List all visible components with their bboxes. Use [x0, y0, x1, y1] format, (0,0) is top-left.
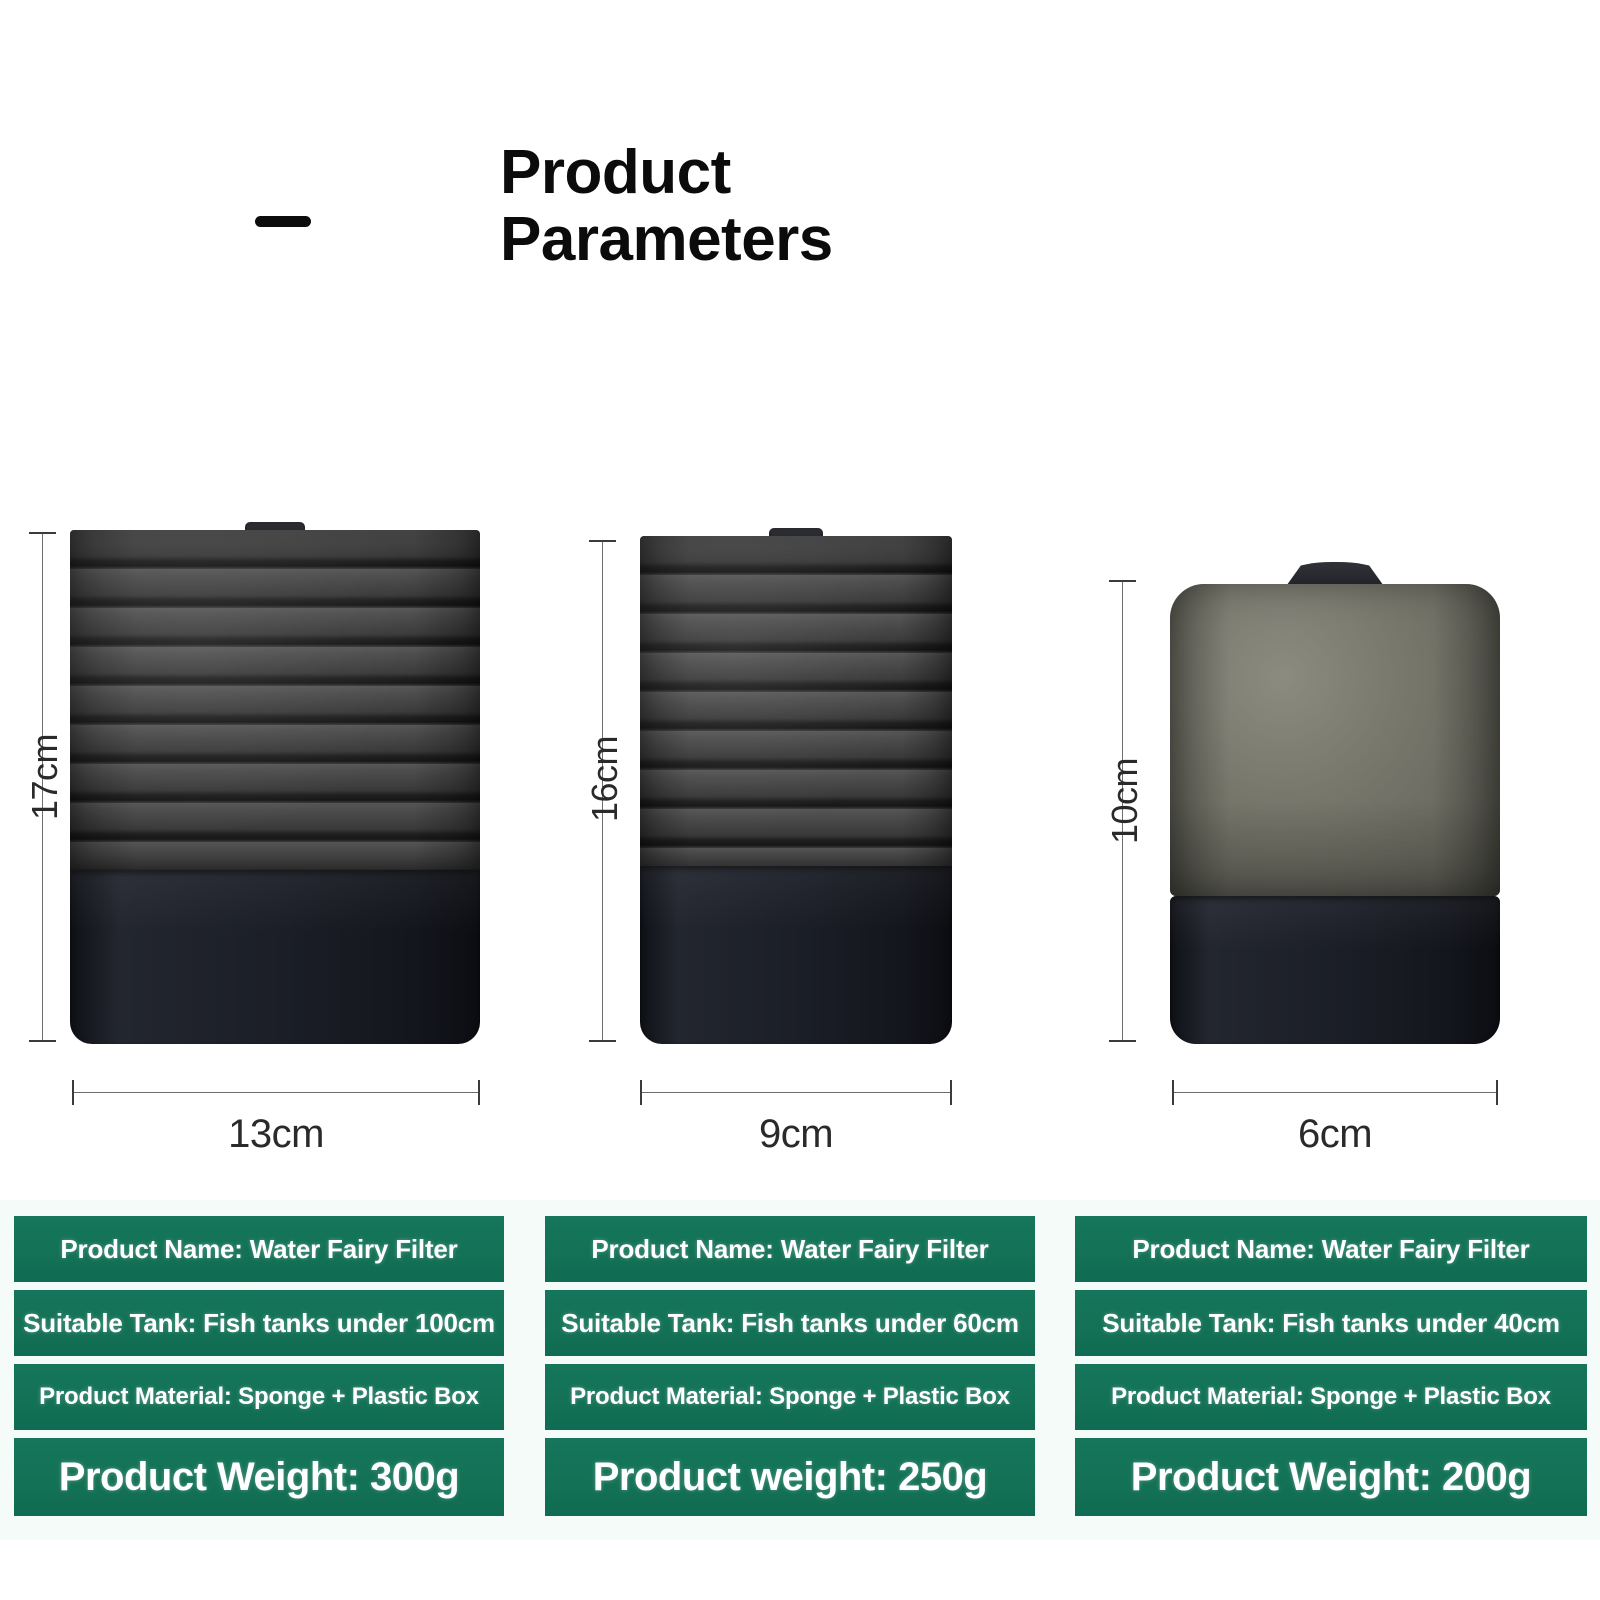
spec-value-suitable-tank: Suitable Tank: Fish tanks under 60cm	[561, 1308, 1019, 1339]
spec-row-product-material: Product Material: Sponge + Plastic Box	[545, 1364, 1035, 1430]
product-figure-large: 17cm 13cm	[0, 500, 520, 1180]
page-title-line-1: Product	[500, 140, 1200, 207]
height-dimension-label-medium: 16cm	[584, 736, 626, 822]
spec-value-product-material: Product Material: Sponge + Plastic Box	[39, 1383, 479, 1411]
spec-row-product-weight: Product Weight: 300g	[14, 1438, 504, 1516]
spec-row-product-name: Product Name: Water Fairy Filter	[14, 1216, 504, 1282]
spec-value-product-name: Product Name: Water Fairy Filter	[591, 1234, 988, 1265]
page-header: Product Parameters	[500, 140, 1200, 274]
spec-value-product-weight: Product Weight: 200g	[1131, 1455, 1531, 1500]
spec-column-large: Product Name: Water Fairy Filter Suitabl…	[14, 1200, 504, 1540]
sponge-fins-medium	[640, 536, 952, 866]
spec-row-product-name: Product Name: Water Fairy Filter	[545, 1216, 1035, 1282]
specifications-panel: Product Name: Water Fairy Filter Suitabl…	[0, 1200, 1600, 1540]
sponge-block-small	[1170, 584, 1500, 896]
width-dimension-line-small	[1172, 1092, 1498, 1093]
spec-value-product-material: Product Material: Sponge + Plastic Box	[1111, 1383, 1551, 1411]
filter-body-small	[1170, 562, 1500, 1044]
filter-body-medium	[640, 536, 952, 1044]
plastic-base-small	[1170, 896, 1500, 1044]
product-figure-small: 10cm 6cm	[1060, 500, 1600, 1180]
spec-value-suitable-tank: Suitable Tank: Fish tanks under 100cm	[23, 1308, 495, 1339]
page-title-line-2: Parameters	[500, 207, 1200, 274]
spec-value-suitable-tank: Suitable Tank: Fish tanks under 40cm	[1102, 1308, 1560, 1339]
spec-row-product-weight: Product weight: 250g	[545, 1438, 1035, 1516]
plastic-base-large	[70, 870, 480, 1044]
product-figure-medium: 16cm 9cm	[530, 500, 1050, 1180]
height-dimension-label-large: 17cm	[24, 734, 66, 820]
spec-value-product-weight: Product weight: 250g	[593, 1455, 988, 1500]
spec-value-product-name: Product Name: Water Fairy Filter	[1132, 1234, 1529, 1265]
product-illustration-stage: 17cm 13cm 16cm 9cm 10cm	[0, 500, 1600, 1180]
sponge-fins-large	[70, 530, 480, 870]
width-dimension-label-medium: 9cm	[640, 1112, 952, 1157]
spec-value-product-weight: Product Weight: 300g	[59, 1455, 459, 1500]
width-dimension-label-small: 6cm	[1172, 1112, 1498, 1157]
spec-row-suitable-tank: Suitable Tank: Fish tanks under 100cm	[14, 1290, 504, 1356]
spec-column-small: Product Name: Water Fairy Filter Suitabl…	[1075, 1200, 1587, 1540]
spec-value-product-name: Product Name: Water Fairy Filter	[60, 1234, 457, 1265]
filter-body-large	[70, 530, 480, 1044]
product-parameters-page: Product Parameters 17cm 13cm 16cm	[0, 0, 1600, 1600]
spec-row-product-material: Product Material: Sponge + Plastic Box	[1075, 1364, 1587, 1430]
height-dimension-label-small: 10cm	[1104, 758, 1146, 844]
spec-value-product-material: Product Material: Sponge + Plastic Box	[570, 1383, 1010, 1411]
spec-column-medium: Product Name: Water Fairy Filter Suitabl…	[545, 1200, 1035, 1540]
dash-divider-icon	[255, 216, 311, 227]
spec-row-product-weight: Product Weight: 200g	[1075, 1438, 1587, 1516]
spec-row-suitable-tank: Suitable Tank: Fish tanks under 60cm	[545, 1290, 1035, 1356]
spec-row-product-name: Product Name: Water Fairy Filter	[1075, 1216, 1587, 1282]
width-dimension-label-large: 13cm	[72, 1112, 480, 1157]
width-dimension-line-large	[72, 1092, 480, 1093]
width-dimension-line-medium	[640, 1092, 952, 1093]
spec-row-product-material: Product Material: Sponge + Plastic Box	[14, 1364, 504, 1430]
plastic-base-medium	[640, 866, 952, 1044]
spec-row-suitable-tank: Suitable Tank: Fish tanks under 40cm	[1075, 1290, 1587, 1356]
